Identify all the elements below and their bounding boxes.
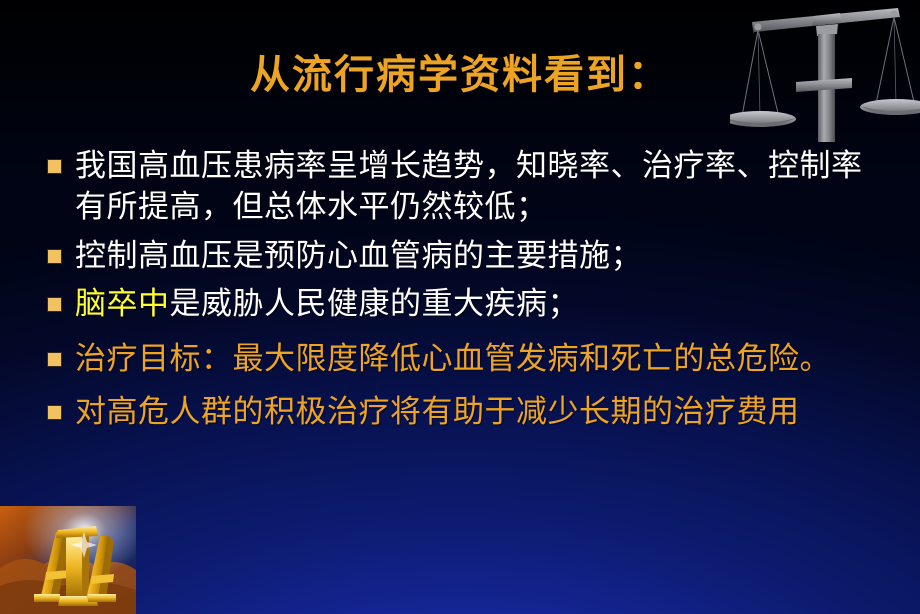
bullet-marker-icon [48, 250, 61, 263]
list-item: 脑卒中是威胁人民健康的重大疾病； [48, 284, 888, 325]
slide-canvas: 从流行病学资料看到： 我国高血压患病率呈增长趋势，知晓率、治疗率、控制率有所提高… [0, 0, 920, 614]
bullet-marker-icon [48, 298, 61, 311]
bullet-marker-icon [48, 406, 61, 419]
bullet-marker-icon [48, 160, 61, 173]
bullet-segment-highlight: 脑卒中 [75, 286, 170, 322]
bullet-segment: 我国高血压患病率呈增长趋势，知晓率、治疗率、控制率有所提高，但总体水平仍然较低； [75, 148, 863, 225]
bullet-segment: 对高危人群的积极治疗将有助于减少长期的治疗费用 [75, 394, 800, 430]
bullet-marker-icon [48, 353, 61, 366]
bullet-text: 控制高血压是预防心血管病的主要措施； [75, 236, 888, 277]
list-item: 治疗目标：最大限度降低心血管发病和死亡的总危险。 [48, 339, 888, 380]
bullet-text: 我国高血压患病率呈增长趋势，知晓率、治疗率、控制率有所提高，但总体水平仍然较低； [75, 146, 888, 228]
bullet-segment: 是威胁人民健康的重大疾病； [170, 286, 580, 322]
bullet-text: 对高危人群的积极治疗将有助于减少长期的治疗费用 [75, 392, 888, 433]
bullet-segment: 治疗目标：最大限度降低心血管发病和死亡的总危险。 [75, 341, 831, 377]
list-item: 控制高血压是预防心血管病的主要措施； [48, 236, 888, 277]
list-item: 对高危人群的积极治疗将有助于减少长期的治疗费用 [48, 392, 888, 433]
bullet-text: 脑卒中是威胁人民健康的重大疾病； [75, 284, 888, 325]
bullet-segment: 控制高血压是预防心血管病的主要措施； [75, 238, 642, 274]
list-item: 我国高血压患病率呈增长趋势，知晓率、治疗率、控制率有所提高，但总体水平仍然较低； [48, 146, 888, 228]
bullet-list: 我国高血压患病率呈增长趋势，知晓率、治疗率、控制率有所提高，但总体水平仍然较低；… [48, 146, 888, 443]
aia-pillar-logo [0, 506, 136, 614]
bullet-text: 治疗目标：最大限度降低心血管发病和死亡的总危险。 [75, 339, 888, 380]
page-title: 从流行病学资料看到： [0, 42, 920, 100]
